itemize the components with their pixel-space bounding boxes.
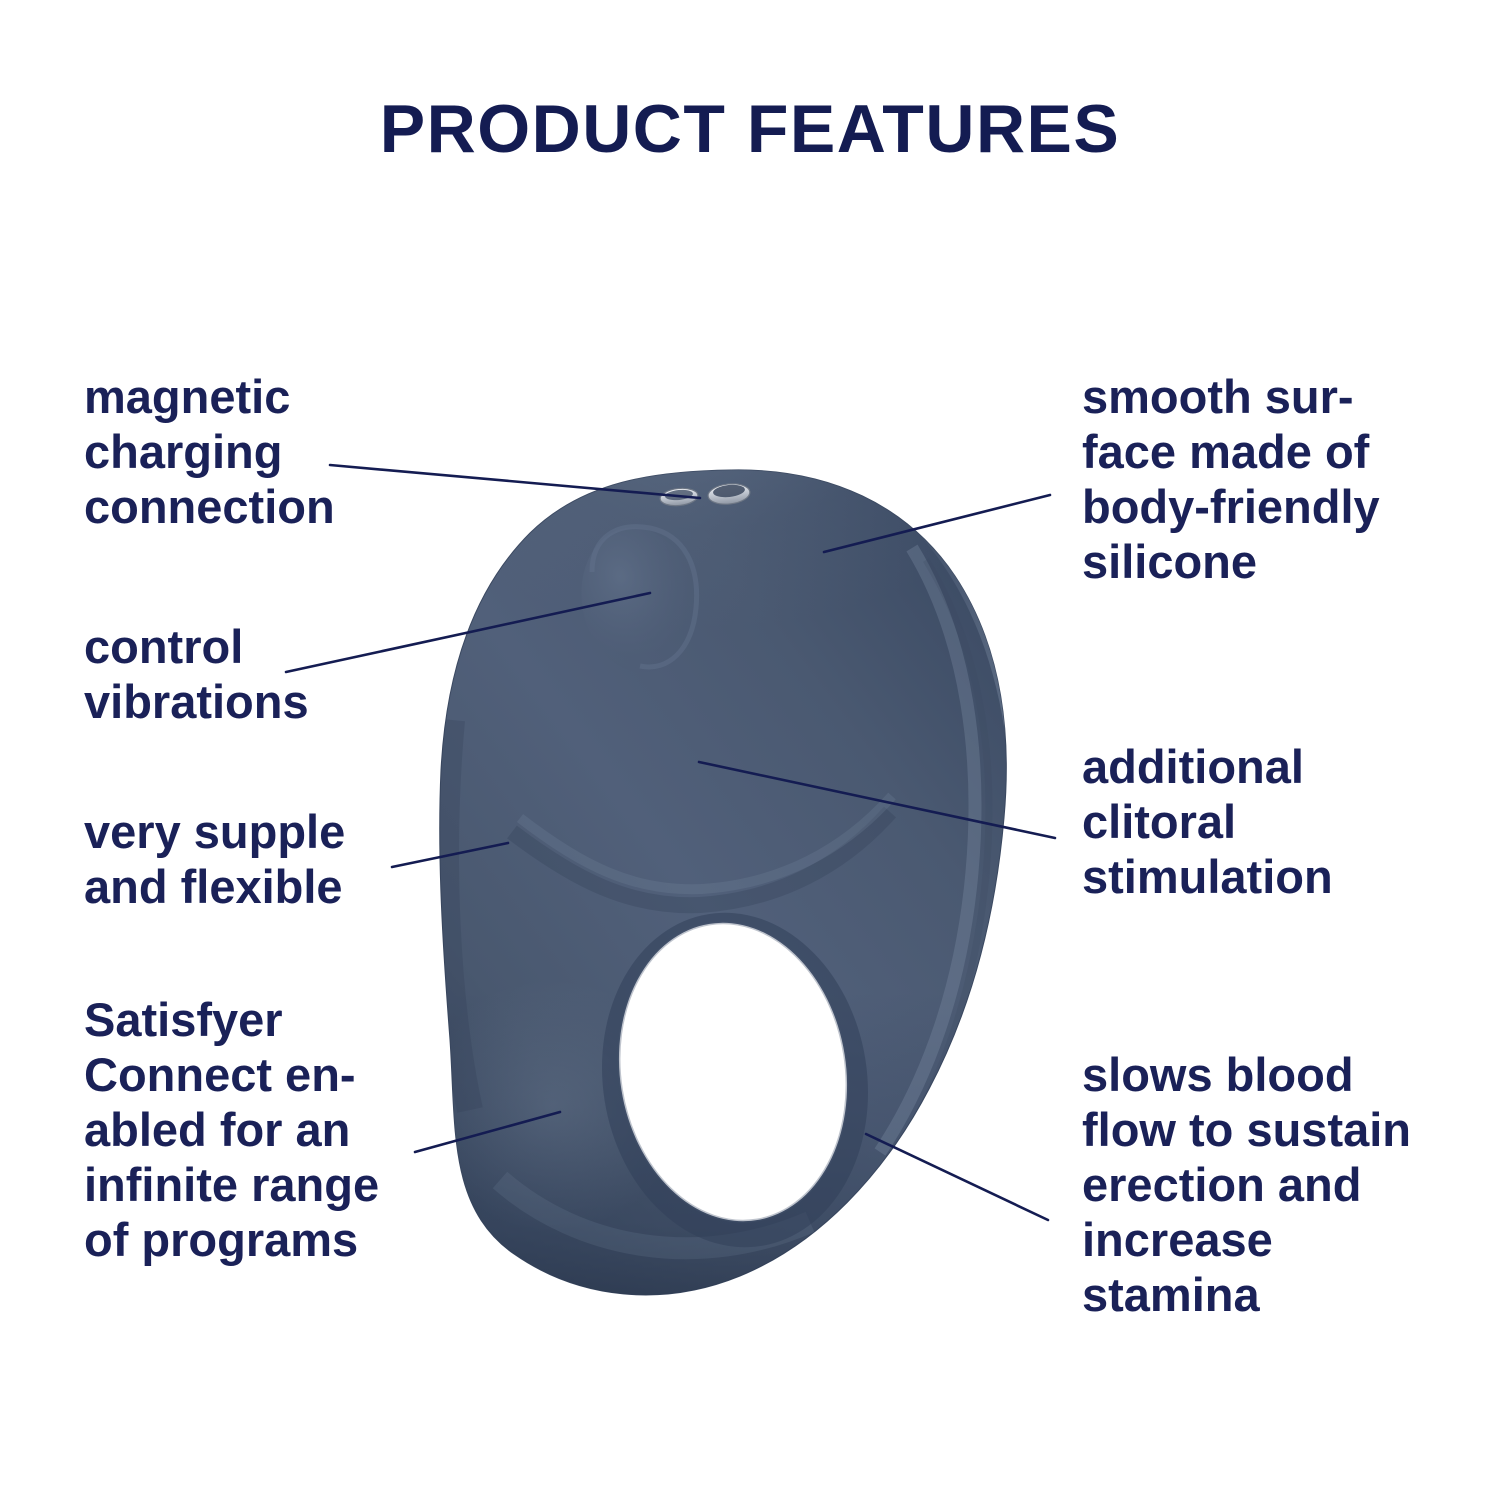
label-magnetic-charging-connection: magnetic charging connection: [84, 370, 414, 535]
leader-slows-blood-flow: [866, 1134, 1048, 1220]
label-additional-clitoral-stimulation: additional clitoral stimulation: [1082, 740, 1442, 905]
label-smooth-surface-silicone: smooth sur- face made of body-friendly s…: [1082, 370, 1442, 590]
page-title: PRODUCT FEATURES: [0, 95, 1500, 163]
leader-clitoral-stimulation: [699, 762, 1055, 838]
label-slows-blood-flow: slows blood flow to sustain erection and…: [1082, 1048, 1452, 1323]
label-satisfyer-connect-enabled: Satisfyer Connect en- abled for an infin…: [84, 993, 424, 1268]
label-control-vibrations: control vibrations: [84, 620, 414, 730]
leader-smooth-surface: [824, 495, 1050, 552]
label-very-supple-and-flexible: very supple and flexible: [84, 805, 424, 915]
leader-satisfyer-connect: [415, 1112, 560, 1152]
product-features-diagram: PRODUCT FEATURES magnetic charging conne…: [0, 0, 1500, 1495]
